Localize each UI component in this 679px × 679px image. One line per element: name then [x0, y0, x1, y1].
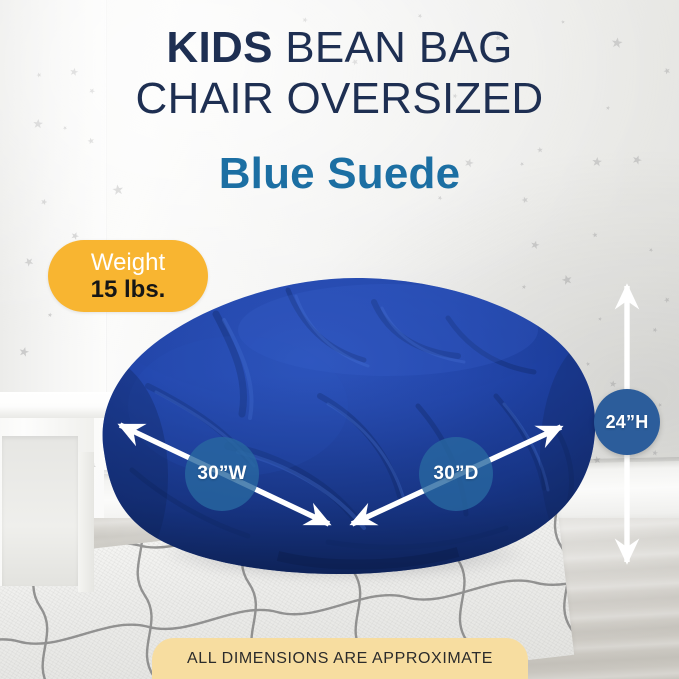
headline-strong: KIDS — [166, 23, 272, 72]
headline-rest: BEAN BAG — [273, 23, 513, 72]
disclaimer-banner: ALL DIMENSIONS ARE APPROXIMATE — [152, 638, 528, 679]
height-dimension-badge: 24”H — [594, 389, 660, 455]
product-subtitle: Blue Suede — [0, 148, 679, 200]
weight-value: 15 lbs. — [91, 276, 166, 304]
width-dimension-badge: 30”W — [185, 437, 259, 511]
page-title: KIDS BEAN BAG CHAIR OVERSIZED — [0, 22, 679, 124]
product-infographic: 30”W 30”D 24”H KIDS BEAN BAG CHAIR OVERS… — [0, 0, 679, 679]
side-table-shelf — [2, 436, 78, 586]
disclaimer-text: ALL DIMENSIONS ARE APPROXIMATE — [187, 650, 493, 668]
headline-line-1: KIDS BEAN BAG — [0, 22, 679, 73]
depth-dimension-badge: 30”D — [419, 437, 493, 511]
headline-line-2: CHAIR OVERSIZED — [0, 73, 679, 124]
weight-badge: Weight 15 lbs. — [48, 240, 208, 312]
weight-label: Weight — [91, 249, 165, 276]
